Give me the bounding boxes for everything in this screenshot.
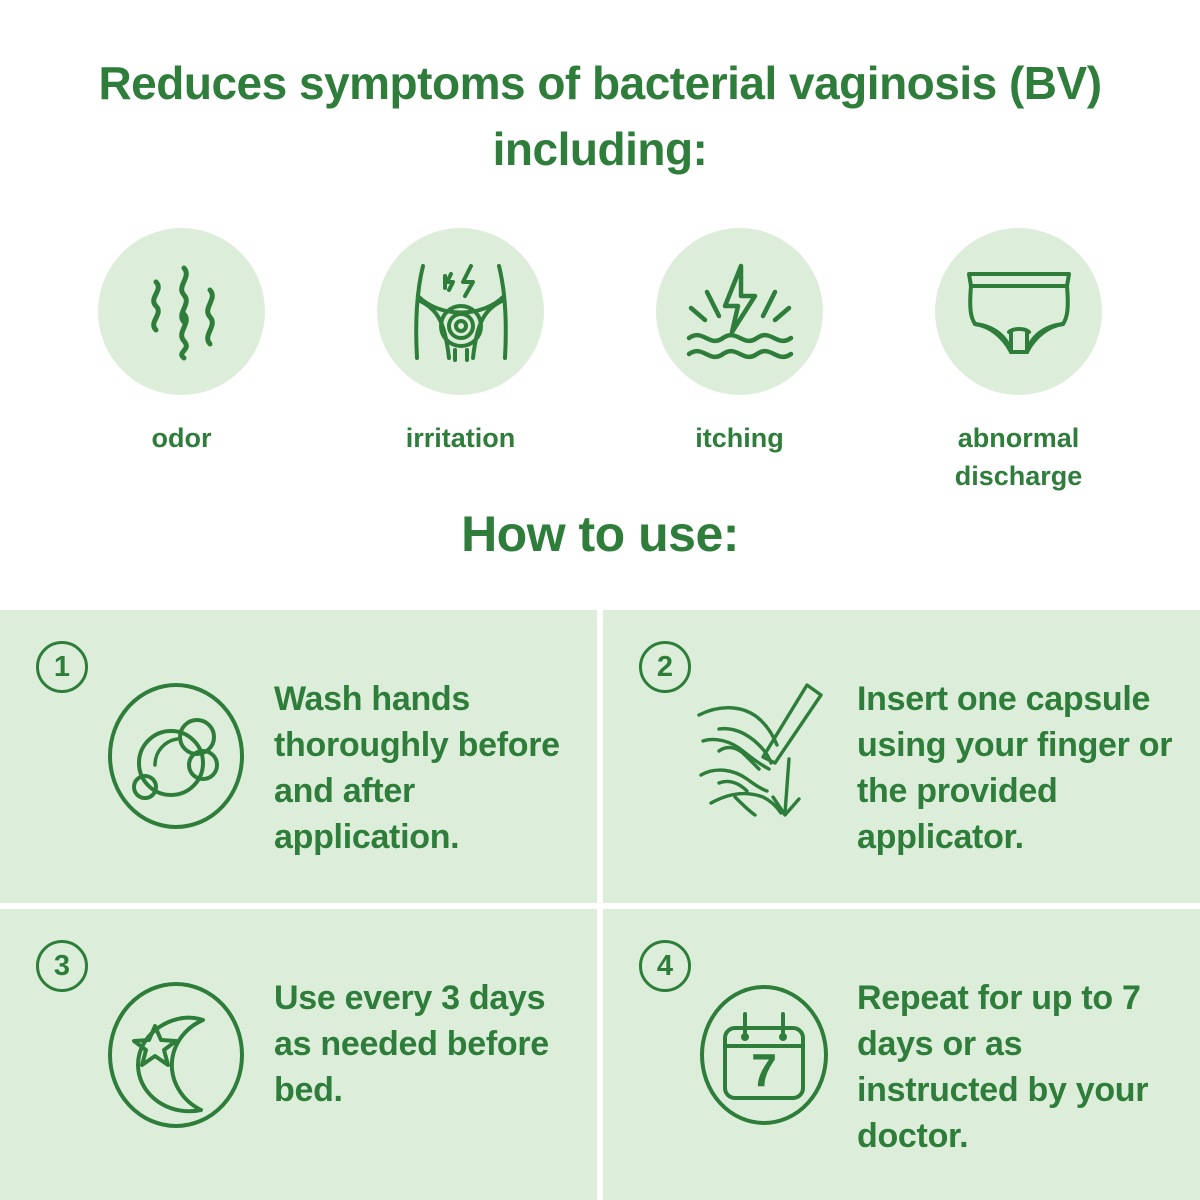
pelvis-pain-icon [407, 260, 515, 364]
symptom-item-itching: itching [600, 228, 879, 495]
moon-star-icon [96, 975, 256, 1135]
step-content: Wash hands thoroughly before and after a… [96, 668, 573, 860]
symptom-label: itching [695, 419, 784, 457]
symptom-list: odor [42, 228, 1158, 495]
step-number-badge: 2 [639, 641, 691, 693]
symptom-label: irritation [406, 419, 516, 457]
symptom-item-irritation: irritation [321, 228, 600, 495]
step-number-badge: 1 [36, 641, 88, 693]
symptom-label: odor [152, 419, 212, 457]
symptom-icon-badge [98, 228, 265, 395]
lightning-skin-icon [683, 262, 797, 362]
symptom-icon-badge [377, 228, 544, 395]
step-card-4: 4 7 [603, 909, 1200, 1200]
soap-bubbles-icon [96, 676, 256, 836]
symptom-icon-badge [656, 228, 823, 395]
step-card-2: 2 [603, 610, 1200, 903]
step-text: Insert one capsule using your finger or … [857, 668, 1176, 860]
symptom-icon-badge [935, 228, 1102, 395]
odor-waves-icon [134, 260, 230, 364]
step-content: Use every 3 days as needed before bed. [96, 967, 573, 1135]
how-to-use-heading: How to use: [0, 505, 1200, 563]
step-number-badge: 3 [36, 940, 88, 992]
step-text: Repeat for up to 7 days or as instructed… [857, 967, 1176, 1159]
step-number-badge: 4 [639, 940, 691, 992]
calendar-seven-icon: 7 [689, 975, 839, 1135]
how-to-use-steps: 1 Wash hands thoroughly before and after… [0, 610, 1200, 1200]
infographic-page: Reduces symptoms of bacterial vaginosis … [0, 0, 1200, 1200]
calendar-day-number: 7 [751, 1044, 777, 1096]
step-content: 7 Repeat for up to 7 days or as instruct… [689, 967, 1176, 1159]
step-content: Insert one capsule using your finger or … [689, 668, 1176, 860]
step-card-1: 1 Wash hands thoroughly before and after… [0, 610, 597, 903]
step-text: Wash hands thoroughly before and after a… [274, 668, 573, 860]
underwear-icon [963, 266, 1075, 358]
page-title: Reduces symptoms of bacterial vaginosis … [60, 50, 1140, 182]
hand-applicator-icon [689, 676, 839, 836]
step-card-3: 3 Use every 3 days as needed before bed. [0, 909, 597, 1200]
step-text: Use every 3 days as needed before bed. [274, 967, 573, 1113]
symptom-item-abnormal-discharge: abnormal discharge [879, 228, 1158, 495]
symptom-item-odor: odor [42, 228, 321, 495]
symptom-label: abnormal discharge [919, 419, 1119, 495]
